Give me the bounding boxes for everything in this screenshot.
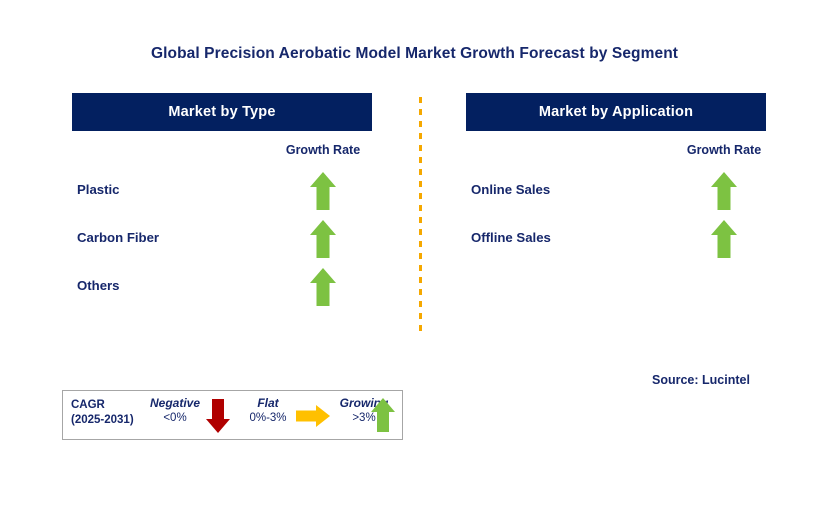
legend-negative-range: <0% <box>139 411 211 427</box>
chart-canvas: Global Precision Aerobatic Model Market … <box>0 0 829 505</box>
segment-label-offline-sales: Offline Sales <box>471 230 551 245</box>
segment-label-online-sales: Online Sales <box>471 182 550 197</box>
legend-cagr-title: CAGR <box>71 399 105 411</box>
arrow-up-icon <box>370 397 396 433</box>
table-row: Carbon Fiber <box>72 219 372 267</box>
legend-flat-name: Flat <box>235 396 301 411</box>
legend-negative-name: Negative <box>139 396 211 411</box>
source-note: Source: Lucintel <box>652 373 750 387</box>
legend-item-flat: Flat 0%-3% <box>235 396 301 427</box>
vertical-dashed-divider <box>419 97 422 335</box>
arrow-up-icon <box>309 219 337 259</box>
segment-label-carbon-fiber: Carbon Fiber <box>77 230 159 245</box>
panel-header-application: Market by Application <box>466 93 766 131</box>
growth-rate-header-application: Growth Rate <box>665 143 783 157</box>
growth-cell-plastic <box>264 171 382 211</box>
arrow-up-icon <box>710 171 738 211</box>
table-row: Offline Sales <box>466 219 766 267</box>
arrow-up-icon <box>710 219 738 259</box>
legend-flat-arrow <box>295 404 331 428</box>
arrow-right-icon <box>295 404 331 428</box>
table-row: Others <box>72 267 372 315</box>
legend-cagr-period: (2025-2031) <box>71 414 134 426</box>
arrow-up-icon <box>309 171 337 211</box>
growth-rate-header-type: Growth Rate <box>264 143 382 157</box>
page-title: Global Precision Aerobatic Model Market … <box>0 45 829 63</box>
segment-label-others: Others <box>77 278 120 293</box>
panel-market-by-type: Market by Type Growth Rate Plastic Carbo… <box>72 93 372 131</box>
segment-rows-application: Online Sales Offline Sales <box>466 171 766 267</box>
table-row: Plastic <box>72 171 372 219</box>
legend-box: CAGR (2025-2031) Negative <0% Flat 0%-3% <box>62 390 403 440</box>
growth-cell-carbon-fiber <box>264 219 382 259</box>
panel-header-type: Market by Type <box>72 93 372 131</box>
legend-flat-range: 0%-3% <box>235 411 301 427</box>
arrow-down-icon <box>205 398 231 434</box>
legend-growing-arrow <box>370 397 396 433</box>
legend-negative-arrow <box>205 398 231 434</box>
legend-item-negative: Negative <0% <box>139 396 211 427</box>
table-row: Online Sales <box>466 171 766 219</box>
panel-market-by-application: Market by Application Growth Rate Online… <box>466 93 766 131</box>
growth-cell-offline-sales <box>665 219 783 259</box>
arrow-up-icon <box>309 267 337 307</box>
segment-label-plastic: Plastic <box>77 182 120 197</box>
segment-rows-type: Plastic Carbon Fiber Others <box>72 171 372 315</box>
growth-cell-others <box>264 267 382 307</box>
legend-cagr-label: CAGR (2025-2031) <box>71 398 134 428</box>
growth-cell-online-sales <box>665 171 783 211</box>
